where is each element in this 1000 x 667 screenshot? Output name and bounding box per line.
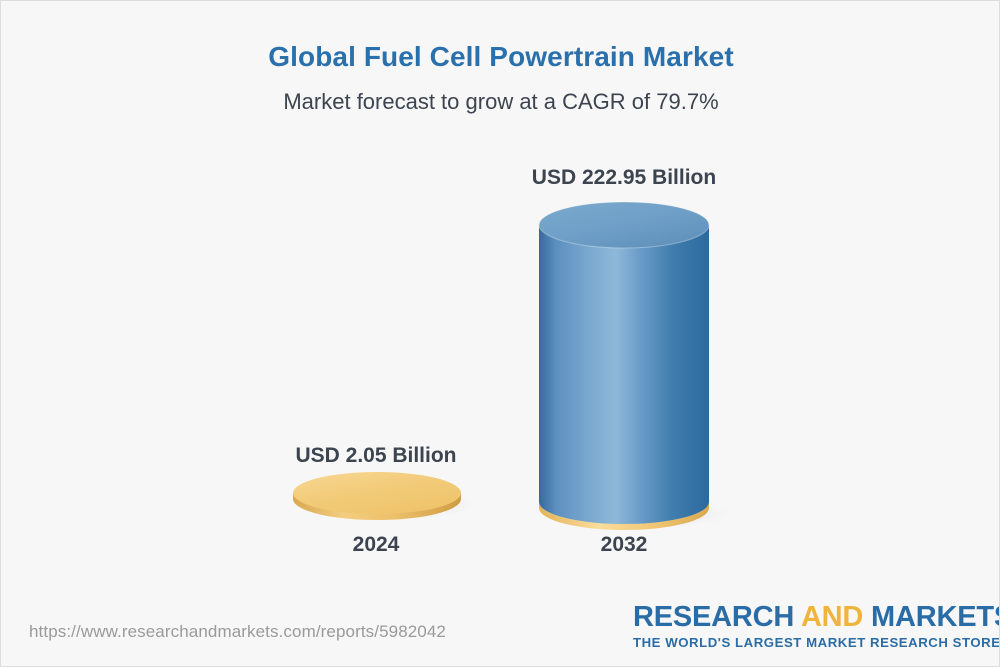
category-label-2024: 2024 xyxy=(256,533,496,557)
bar-2032-cylinder xyxy=(531,197,731,527)
report-url[interactable]: https://www.researchandmarkets.com/repor… xyxy=(29,622,446,642)
logo-word-research: RESEARCH xyxy=(633,601,801,633)
bar-2024-cylinder xyxy=(285,471,485,531)
logo-tagline: THE WORLD'S LARGEST MARKET RESEARCH STOR… xyxy=(633,635,989,650)
logo-word-and: AND xyxy=(801,601,863,633)
research-and-markets-logo: RESEARCH AND MARKETS THE WORLD'S LARGEST… xyxy=(633,603,989,650)
value-label-2024: USD 2.05 Billion xyxy=(256,444,496,468)
plot-area: USD 2.05 Billion USD 222.95 Billion 2024… xyxy=(1,1,1000,601)
value-label-2032: USD 222.95 Billion xyxy=(504,166,744,190)
logo-word-markets: MARKETS xyxy=(863,601,1000,633)
chart-canvas: Global Fuel Cell Powertrain Market Marke… xyxy=(0,0,1000,667)
category-label-2032: 2032 xyxy=(504,533,744,557)
logo-wordmark: RESEARCH AND MARKETS xyxy=(633,603,989,632)
